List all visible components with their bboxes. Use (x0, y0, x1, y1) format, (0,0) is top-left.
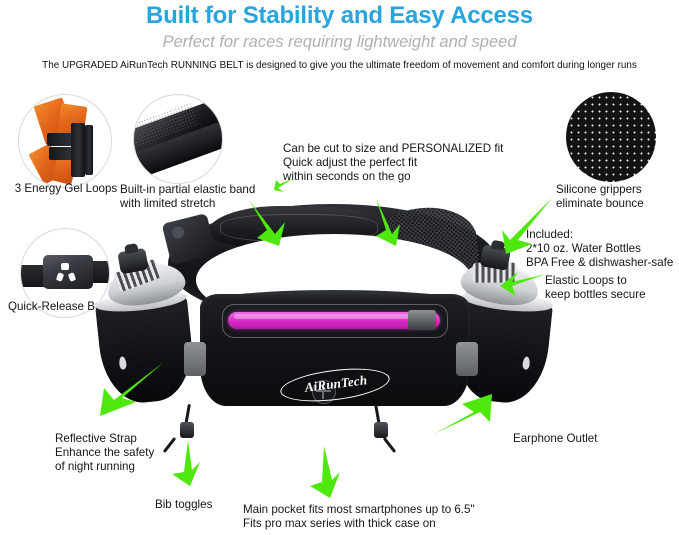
zipper-pull[interactable] (408, 310, 436, 330)
arrow-to-grippers-panel (498, 196, 556, 258)
earphone-outlet-callout: Earphone Outlet (513, 432, 643, 446)
page-title: Built for Stability and Easy Access (0, 2, 679, 30)
page-subtitle: Perfect for races requiring lightweight … (0, 33, 679, 52)
arrow-to-main-pocket (308, 446, 342, 498)
page-description: The UPGRADED AiRunTech RUNNING BELT is d… (14, 60, 666, 71)
grippers-inset-image (566, 92, 656, 182)
gel-loops-inset-image (18, 94, 112, 188)
arrow-to-reflective-strap (96, 358, 168, 420)
arrow-from-personalized-fit (274, 176, 296, 194)
gel-loops-caption: 3 Energy Gel Loops (4, 182, 128, 196)
right-bib-cord-tail (383, 437, 396, 453)
main-pocket-callout: Main pocket fits most smartphones up to … (243, 503, 523, 531)
arrow-to-bib-toggle (170, 440, 200, 488)
arrow-to-elastic-loop (498, 268, 548, 296)
elastic-loops-callout: Elastic Loops to keep bottles secure (545, 274, 679, 302)
personalized-fit-callout: Can be cut to size and PERSONALIZED fit … (283, 142, 533, 184)
left-bib-toggle (180, 422, 194, 438)
arrow-to-back-pad-right (370, 196, 404, 246)
brand-logo: AiRunTech (280, 370, 390, 400)
arrow-to-earphone-outlet (432, 392, 494, 438)
infographic-canvas: Built for Stability and Easy Access Perf… (0, 0, 679, 535)
grippers-caption: Silicone grippers eliminate bounce (556, 183, 676, 211)
right-elastic-loop (456, 342, 478, 376)
zipper-highlight (234, 314, 430, 319)
elastic-band-inset-image (133, 94, 223, 184)
left-elastic-loop (184, 342, 206, 376)
arrow-to-back-pad-left (245, 198, 289, 248)
right-bib-toggle (374, 422, 388, 438)
